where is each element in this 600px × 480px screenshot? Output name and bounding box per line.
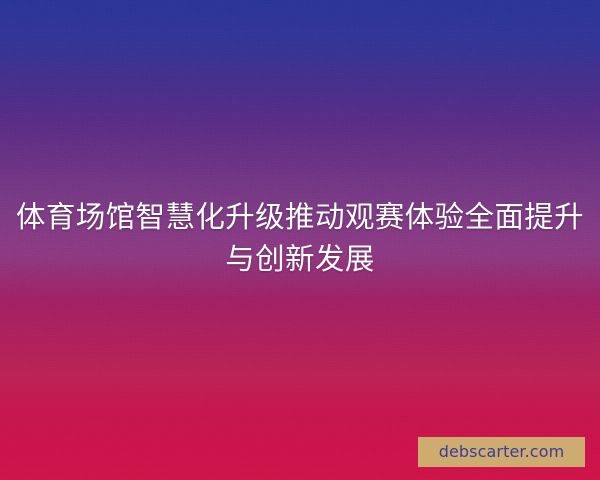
cover-image-canvas: 体育场馆智慧化升级推动观赛体验全面提升与创新发展 debscarter.com — [0, 0, 600, 480]
watermark-label: debscarter.com — [439, 444, 565, 460]
page-title: 体育场馆智慧化升级推动观赛体验全面提升与创新发展 — [0, 196, 600, 280]
page-title-text: 体育场馆智慧化升级推动观赛体验全面提升与创新发展 — [14, 196, 586, 280]
watermark-badge[interactable]: debscarter.com — [418, 437, 585, 467]
